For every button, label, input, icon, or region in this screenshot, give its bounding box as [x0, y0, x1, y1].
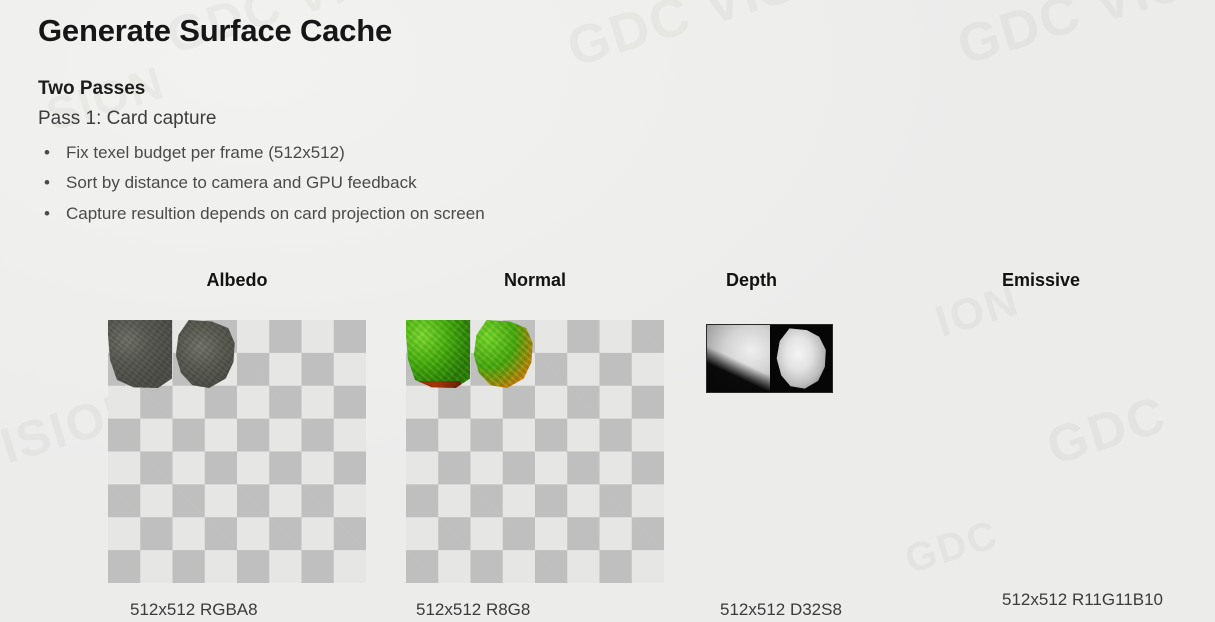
header-block: Generate Surface Cache Two Passes Pass 1… — [38, 12, 738, 229]
column-caption-normal: 512x512 R8G8 — [416, 600, 530, 620]
texture-grain-overlay — [108, 320, 172, 388]
column-title-emissive: Emissive — [1002, 270, 1212, 291]
albedo-thumbnails — [108, 320, 236, 388]
page-title: Generate Surface Cache — [38, 12, 738, 51]
bullet-dot-icon: • — [44, 138, 50, 168]
bullet-dot-icon: • — [44, 168, 50, 198]
texture-columns: Albedo 512x512 RGBA8 Normal — [0, 270, 1215, 622]
column-title-normal: Normal — [406, 270, 664, 291]
emissive-texture-panel — [1002, 324, 1202, 554]
normal-thumbnails — [406, 320, 534, 388]
column-emissive: Emissive 512x512 R11G11B10 — [1002, 270, 1212, 291]
normal-card-thumbnail — [406, 320, 470, 388]
depth-texture-panel — [706, 324, 833, 393]
normal-edge-highlight — [407, 381, 461, 388]
texture-grain-overlay — [406, 320, 470, 388]
section-heading: Two Passes — [38, 77, 738, 102]
normal-checkerboard — [406, 320, 664, 583]
column-title-albedo: Albedo — [108, 270, 366, 291]
list-item: • Sort by distance to camera and GPU fee… — [38, 168, 738, 198]
normal-card-thumbnail — [470, 320, 534, 388]
slide-canvas: GDC VISION GDC VISION GDC VISIO VISION G… — [0, 0, 1215, 622]
list-item: • Fix texel budget per frame (512x512) — [38, 138, 738, 168]
watermark-text: GDC VISIO — [950, 0, 1215, 77]
column-title-depth: Depth — [706, 270, 906, 291]
texture-grain-overlay — [470, 320, 534, 388]
albedo-card-thumbnail — [172, 320, 236, 388]
list-item-label: Capture resultion depends on card projec… — [66, 204, 485, 223]
albedo-card-thumbnail — [108, 320, 172, 388]
column-depth: Depth 512x512 D32S8 — [706, 270, 906, 291]
list-item: • Capture resultion depends on card proj… — [38, 199, 738, 229]
column-caption-albedo: 512x512 RGBA8 — [130, 600, 258, 620]
bullet-dot-icon: • — [44, 199, 50, 229]
pass-label: Pass 1: Card capture — [38, 106, 738, 132]
column-caption-depth: 512x512 D32S8 — [720, 600, 842, 620]
depth-card-thumbnail — [770, 325, 833, 392]
depth-card-thumbnail — [707, 325, 770, 392]
bullet-list: • Fix texel budget per frame (512x512) •… — [38, 138, 738, 229]
column-normal: Normal 512x512 R8G8 — [406, 270, 664, 291]
column-albedo: Albedo 512x512 RGBA8 — [108, 270, 366, 291]
list-item-label: Fix texel budget per frame (512x512) — [66, 143, 345, 162]
albedo-checkerboard — [108, 320, 366, 583]
texture-grain-overlay — [172, 320, 236, 388]
list-item-label: Sort by distance to camera and GPU feedb… — [66, 173, 417, 192]
column-caption-emissive: 512x512 R11G11B10 — [1002, 590, 1163, 610]
